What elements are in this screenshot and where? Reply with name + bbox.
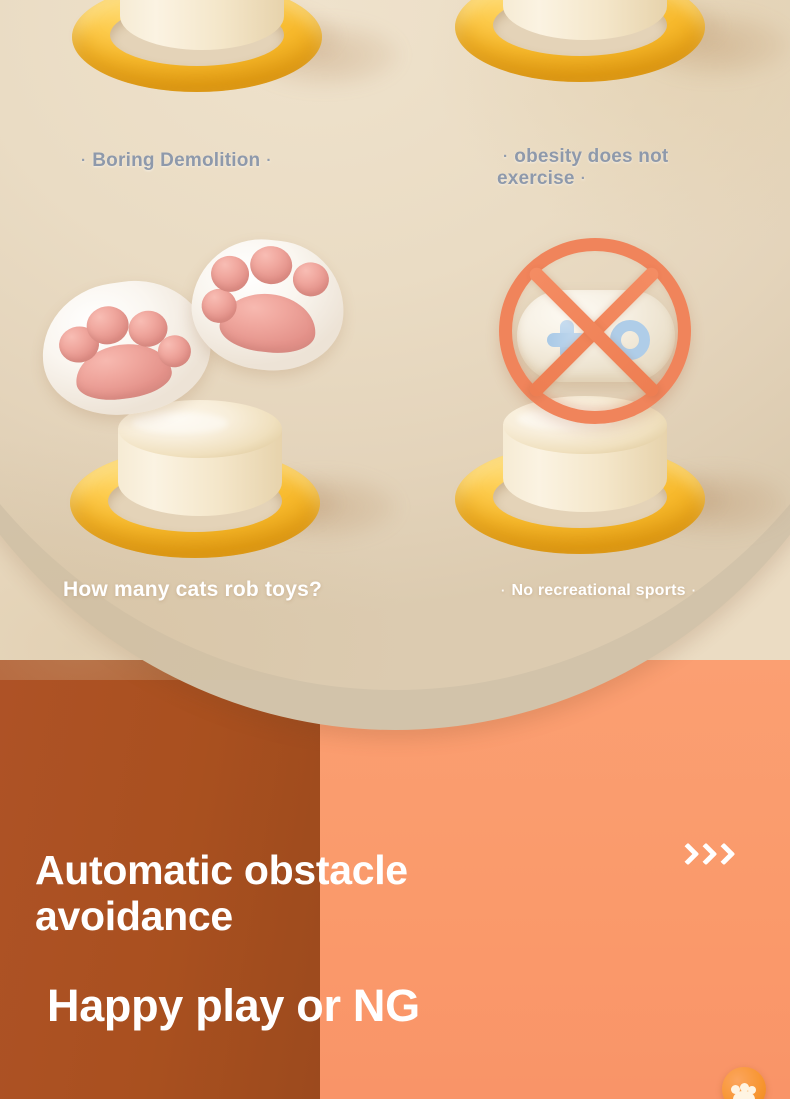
bottom-banner: Automatic obstacle avoidance Happy play … xyxy=(0,660,790,1099)
caption-bullet-right: · xyxy=(266,152,271,170)
caption-cats-text: How many cats rob toys? xyxy=(63,578,322,601)
caption-bullet-left: · xyxy=(501,583,505,598)
caption-bullet-right: · xyxy=(692,583,696,598)
caption-how-many-cats-rob-toys: How many cats rob toys? xyxy=(63,578,322,603)
paw-print-icon xyxy=(730,1083,758,1099)
caption-obesity-does-not-exercise: ·obesity does not exercise· xyxy=(497,146,747,191)
caption-bullet-left: · xyxy=(503,148,508,166)
caption-bullet-left: · xyxy=(81,152,86,170)
caption-boring-demolition-text: Boring Demolition xyxy=(92,150,260,171)
caption-boring-demolition: ·Boring Demolition· xyxy=(75,150,278,172)
chevron-right-icons xyxy=(678,842,730,868)
caption-no-recreational-sports: ·No recreational sports· xyxy=(495,582,702,601)
banner-subline: Happy play or NG xyxy=(47,980,420,1032)
caption-no-recreational-sports-text: No recreational sports xyxy=(511,582,685,599)
game-controller-group xyxy=(495,238,695,428)
podium-highlight xyxy=(132,412,228,434)
chevron-right-icon xyxy=(714,842,730,868)
prohibition-sign-icon xyxy=(495,238,695,428)
banner-headline: Automatic obstacle avoidance xyxy=(35,848,555,940)
chevron-right-icon xyxy=(678,842,694,868)
caption-bullet-right: · xyxy=(581,170,586,188)
chevron-right-icon xyxy=(696,842,712,868)
promo-scene: ·Boring Demolition· ·obesity does not ex… xyxy=(0,0,790,1099)
cat-paw-pad-right xyxy=(186,232,351,377)
